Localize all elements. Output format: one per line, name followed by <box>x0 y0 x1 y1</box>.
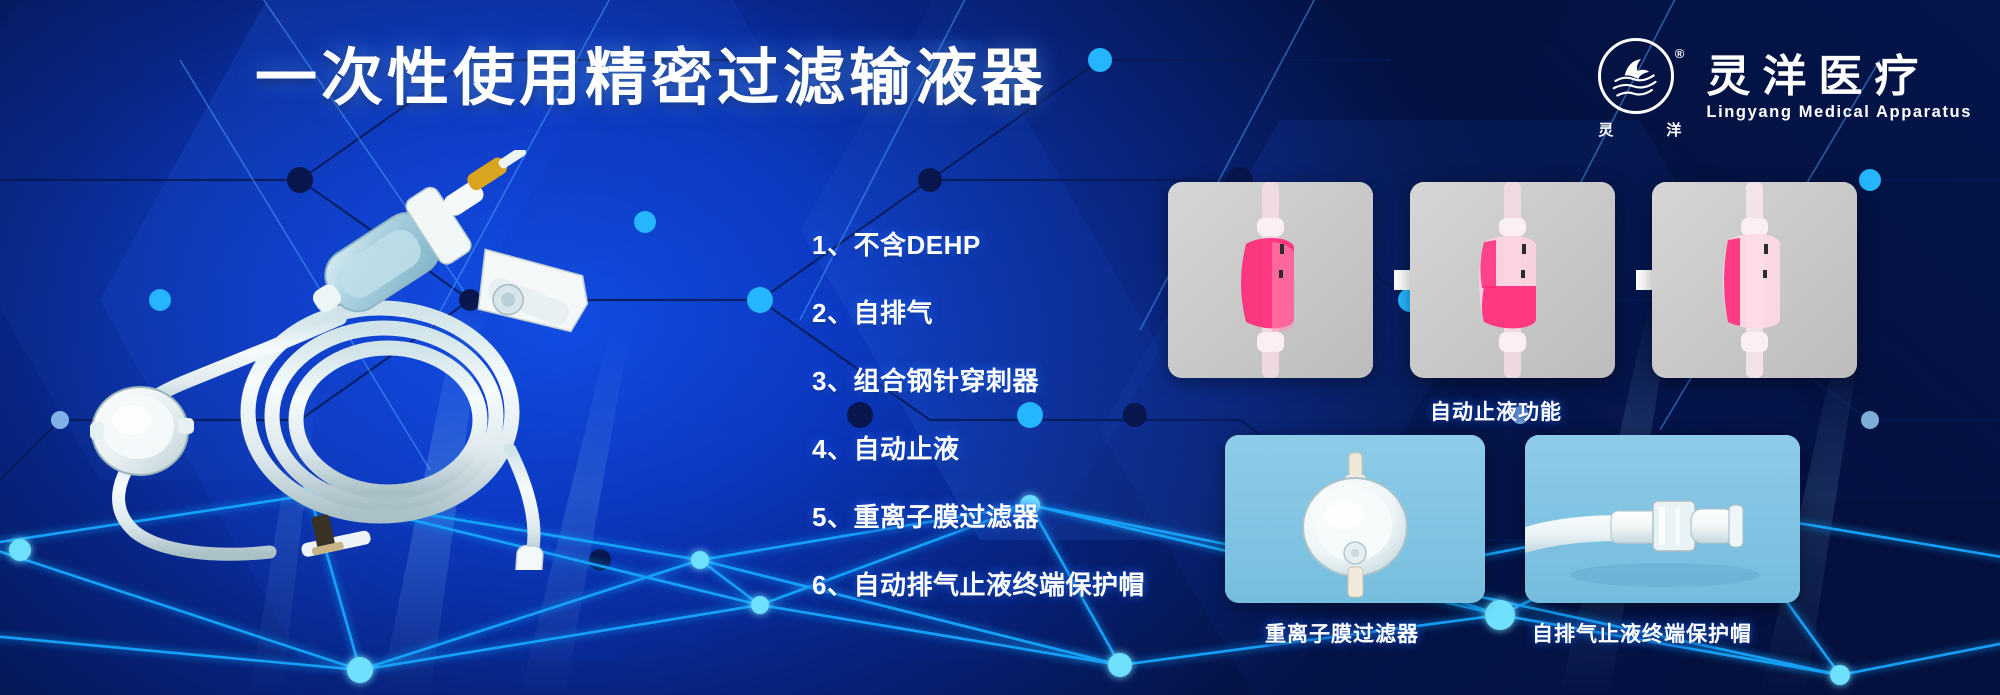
product-card-photo-2 <box>1525 435 1800 603</box>
hero-needle-connector <box>514 545 543 570</box>
brand-logo: ® 灵 洋 灵洋医疗 Lingyang Medical Apparatus <box>1592 38 1972 138</box>
feature-index-6: 6、 <box>812 570 853 600</box>
feature-index-4: 4、 <box>812 434 853 464</box>
feature-item-1: 1、不含DEHP <box>812 232 1172 258</box>
feature-index-3: 3、 <box>812 366 853 396</box>
feature-label-1: 不含DEHP <box>853 230 980 260</box>
feature-item-5: 5、重离子膜过滤器 <box>812 504 1172 530</box>
feature-item-6: 6、自动排气止液终端保护帽 <box>812 572 1172 598</box>
product-card-caption-2: 自排气止液终端保护帽 <box>1532 618 1752 648</box>
sequence-frame-2 <box>1410 182 1615 378</box>
feature-list: 1、不含DEHP 2、自排气 3、组合钢针穿刺器 4、自动止液 5、重离子膜过滤… <box>812 232 1172 598</box>
product-card-caption-1: 重离子膜过滤器 <box>1265 618 1419 648</box>
feature-label-2: 自排气 <box>853 298 933 328</box>
product-card-photo-1 <box>1225 435 1485 603</box>
feature-index-5: 5、 <box>812 502 853 532</box>
feature-label-4: 自动止液 <box>853 434 959 464</box>
feature-item-4: 4、自动止液 <box>812 436 1172 462</box>
emblem-char-left: 灵 <box>1598 119 1614 140</box>
brand-name-cn: 灵洋医疗 <box>1706 54 1972 100</box>
feature-label-5: 重离子膜过滤器 <box>853 502 1039 532</box>
feature-index-1: 1、 <box>812 230 853 260</box>
feature-item-3: 3、组合钢针穿刺器 <box>812 368 1172 394</box>
banner-title: 一次性使用精密过滤输液器 <box>255 48 1047 110</box>
feature-index-2: 2、 <box>812 298 853 328</box>
sequence-caption: 自动止液功能 <box>1430 396 1562 426</box>
hero-filter-disc <box>90 387 194 475</box>
brand-name-en: Lingyang Medical Apparatus <box>1706 103 1972 122</box>
product-banner: 一次性使用精密过滤输液器 ® 灵 洋 灵洋医疗 Li <box>0 0 2000 695</box>
feature-item-2: 2、自排气 <box>812 300 1172 326</box>
feature-label-6: 自动排气止液终端保护帽 <box>853 570 1145 600</box>
sequence-frame-1 <box>1168 182 1373 378</box>
hero-product-photo <box>40 150 760 570</box>
feature-label-3: 组合钢针穿刺器 <box>853 366 1039 396</box>
hero-roller-clamp <box>464 238 597 346</box>
emblem-char-right: 洋 <box>1666 119 1682 140</box>
lingyang-circular-emblem-icon: ® 灵 洋 <box>1592 38 1688 138</box>
sequence-frame-3 <box>1652 182 1857 378</box>
registered-trademark-symbol: ® <box>1675 46 1685 61</box>
